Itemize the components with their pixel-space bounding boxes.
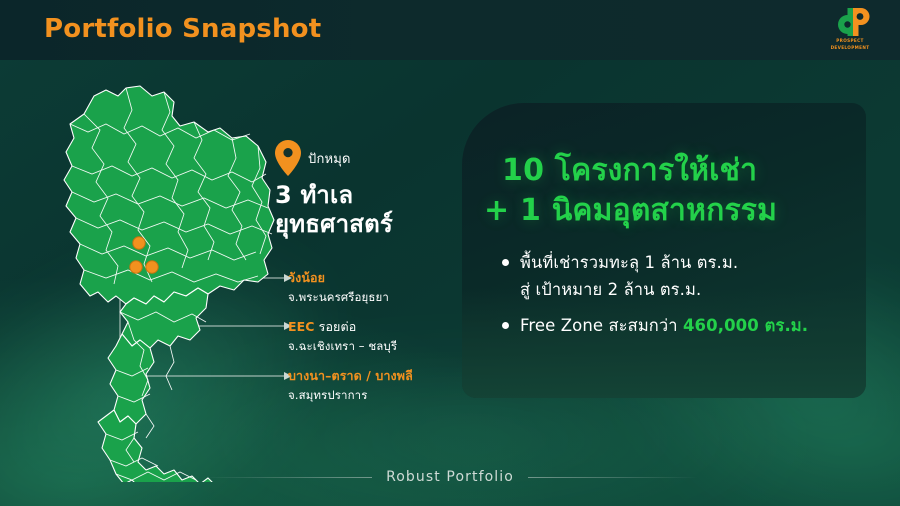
- bangna-trad-marker[interactable]: [130, 261, 142, 273]
- location-name: วังน้อย: [288, 268, 488, 288]
- location-name: บางนา–ตราด / บางพลี: [288, 366, 488, 386]
- dp-monogram-icon: [830, 6, 872, 38]
- bullet-text-main: Free Zone สะสมกว่า: [520, 316, 683, 335]
- wang-noi-marker[interactable]: [133, 237, 145, 249]
- brand-logo: PROSPECT DEVELOPMENT: [822, 6, 878, 54]
- list-item: พื้นที่เช่ารวมทะลุ 1 ล้าน ตร.ม. สู่ เป้า…: [502, 250, 844, 303]
- list-item: Free Zone สะสมกว่า 460,000 ตร.ม.: [502, 313, 844, 340]
- card-headline-line1: 10 โครงการให้เช่า: [502, 153, 757, 188]
- location-name-main: EEC: [288, 319, 315, 334]
- list-item[interactable]: EEC รอยต่อ จ.ฉะเชิงเทรา – ชลบุรี: [288, 317, 488, 356]
- bullet-highlight: 460,000 ตร.ม.: [683, 316, 808, 335]
- location-name-main: บางนา–ตราด / บางพลี: [288, 368, 413, 383]
- bullet-text: Free Zone สะสมกว่า 460,000 ตร.ม.: [520, 313, 808, 340]
- location-province: จ.สมุทรปราการ: [288, 387, 488, 405]
- bullet-dot-icon: [502, 322, 509, 329]
- footer-rule-left: [202, 477, 372, 478]
- pin-heading-line2: ยุทธศาสตร์: [275, 210, 393, 238]
- location-name-main: วังน้อย: [288, 270, 325, 285]
- location-name-suffix: รอยต่อ: [315, 319, 357, 334]
- list-item[interactable]: วังน้อย จ.พระนครศรีอยุธยา: [288, 268, 488, 307]
- logo-wordmark: PROSPECT DEVELOPMENT: [822, 38, 878, 51]
- card-headline-line2: + 1 นิคมอุตสาหกรรม: [484, 191, 844, 231]
- logo-name-line1: PROSPECT: [836, 38, 864, 43]
- stats-card: 10 โครงการให้เช่า + 1 นิคมอุตสาหกรรม พื้…: [462, 103, 866, 398]
- map-pin-icon: [275, 140, 301, 176]
- location-name: EEC รอยต่อ: [288, 317, 488, 337]
- location-province: จ.พระนครศรีอยุธยา: [288, 289, 488, 307]
- footer-rule-right: [528, 477, 698, 478]
- logo-name-line2: DEVELOPMENT: [831, 45, 870, 50]
- stats-card-content: 10 โครงการให้เช่า + 1 นิคมอุตสาหกรรม พื้…: [462, 103, 866, 339]
- pin-block: ปักหมุด 3 ทำเล ยุทธศาสตร์: [275, 136, 475, 240]
- footer-text: Robust Portfolio: [386, 469, 514, 485]
- bullet-text: พื้นที่เช่ารวมทะลุ 1 ล้าน ตร.ม. สู่ เป้า…: [520, 250, 738, 303]
- thailand-map: [22, 82, 292, 482]
- bullet-text-sub: สู่ เป้าหมาย 2 ล้าน ตร.ม.: [520, 277, 738, 304]
- location-list: วังน้อย จ.พระนครศรีอยุธยา EEC รอยต่อ จ.ฉ…: [288, 268, 488, 415]
- bullet-text-main: พื้นที่เช่ารวมทะลุ 1 ล้าน ตร.ม.: [520, 253, 738, 272]
- slide-root: Portfolio Snapshot PROSPECT DEVELOPMENT: [0, 0, 900, 506]
- pin-heading: 3 ทำเล ยุทธศาสตร์: [275, 181, 475, 240]
- footer: Robust Portfolio: [0, 466, 900, 488]
- list-item[interactable]: บางนา–ตราด / บางพลี จ.สมุทรปราการ: [288, 366, 488, 405]
- page-title: Portfolio Snapshot: [44, 14, 321, 44]
- pin-label: ปักหมุด: [308, 148, 351, 169]
- card-headline: 10 โครงการให้เช่า + 1 นิคมอุตสาหกรรม: [502, 151, 844, 230]
- location-province: จ.ฉะเชิงเทรา – ชลบุรี: [288, 338, 488, 356]
- pin-row: ปักหมุด: [275, 136, 475, 180]
- eec-marker[interactable]: [146, 261, 158, 273]
- header-bar: Portfolio Snapshot PROSPECT DEVELOPMENT: [0, 0, 900, 60]
- card-bullet-list: พื้นที่เช่ารวมทะลุ 1 ล้าน ตร.ม. สู่ เป้า…: [502, 250, 844, 339]
- pin-heading-line1: 3 ทำเล: [275, 181, 353, 209]
- bullet-dot-icon: [502, 259, 509, 266]
